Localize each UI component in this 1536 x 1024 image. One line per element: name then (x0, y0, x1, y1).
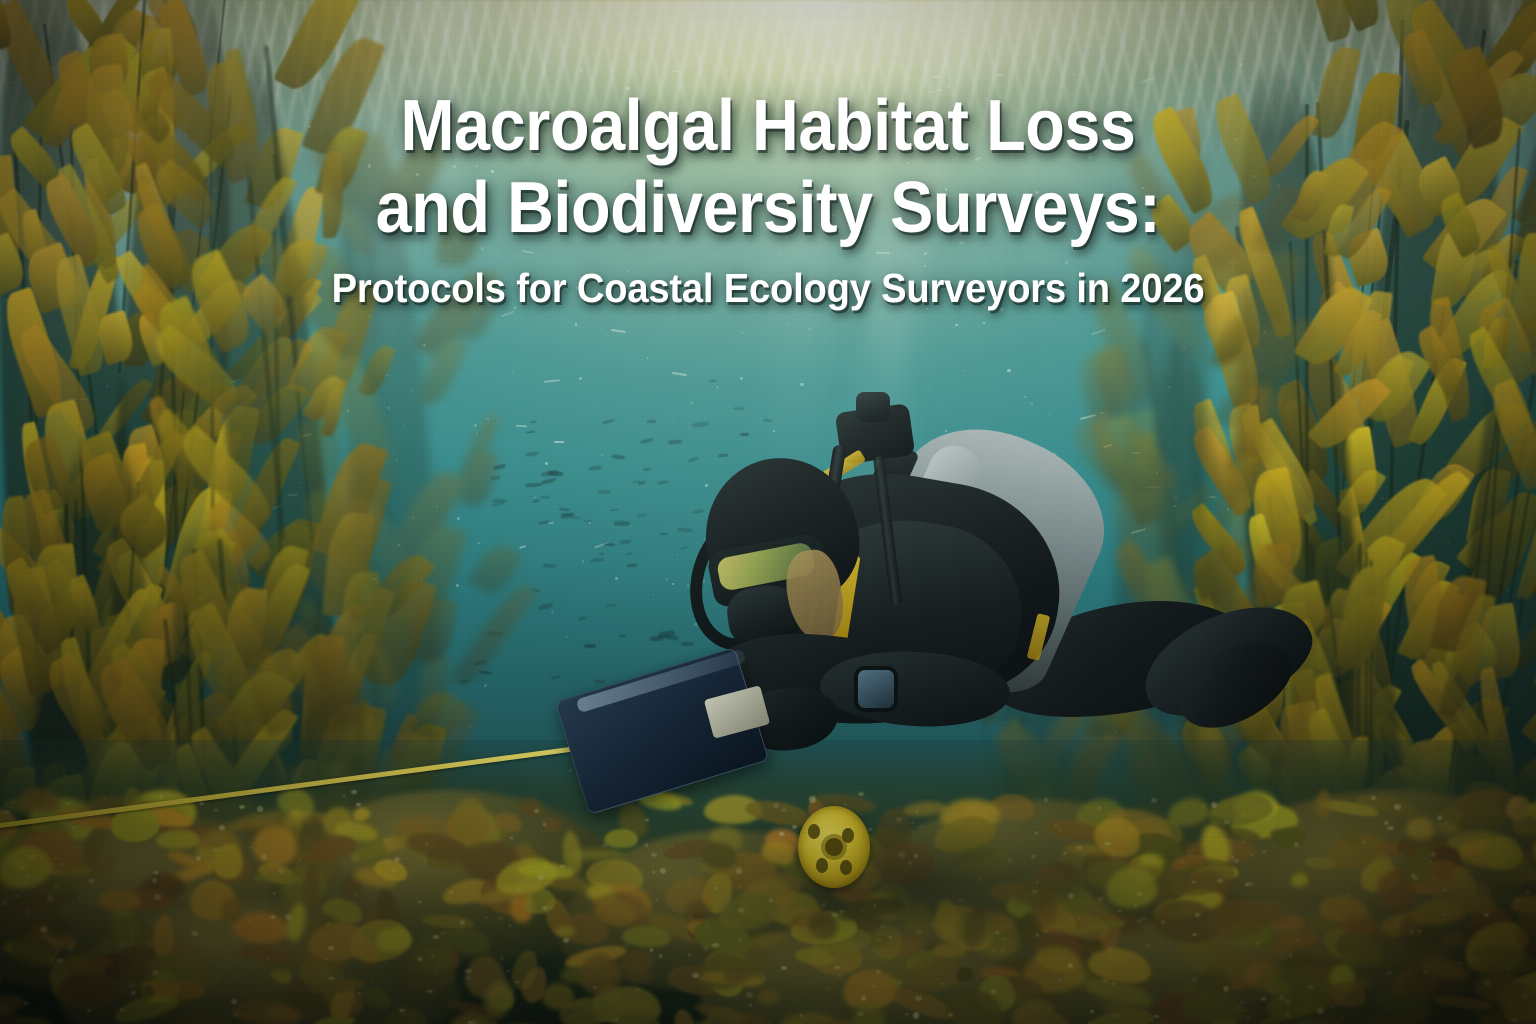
reef-speck (1506, 967, 1510, 970)
reef-speck (1371, 796, 1376, 800)
reef-speck (129, 983, 135, 989)
reef-speck (1147, 944, 1151, 947)
reef-speck (1261, 997, 1266, 1001)
reef-speck (1485, 980, 1491, 985)
reef-speck (24, 1002, 29, 1005)
reef-speck (1459, 962, 1461, 963)
reef-speck (515, 981, 519, 983)
reef-speck (54, 857, 56, 859)
reef-speck (25, 875, 29, 877)
reef-speck (1092, 952, 1094, 954)
reef-speck (1090, 1010, 1094, 1013)
reef-speck (357, 992, 361, 995)
reef-speck (418, 957, 423, 961)
reef-speck (195, 852, 198, 855)
reef-speck (89, 879, 94, 883)
reef-speck (325, 958, 328, 960)
reef-speck (154, 894, 161, 900)
reef-speck (351, 790, 357, 794)
reef-speck (434, 974, 437, 976)
reef-speck (29, 855, 35, 859)
reef-speck (1476, 959, 1480, 961)
reef-speck (507, 970, 510, 972)
first-stage-regulator (856, 392, 890, 422)
reef-speck (219, 825, 225, 829)
reef-speck (1514, 897, 1520, 902)
reef-speck (1443, 821, 1449, 824)
reef-speck (1409, 930, 1414, 934)
reef-speck (1058, 978, 1062, 982)
scuba-diver (520, 400, 1280, 920)
reef-speck (460, 920, 465, 925)
reef-speck (47, 895, 54, 902)
reef-speck (834, 966, 840, 969)
turf-algae-clump (156, 829, 200, 849)
reef-speck (484, 916, 489, 919)
reef-speck (1236, 1007, 1238, 1009)
reef-speck (826, 987, 829, 990)
reef-speck (131, 991, 136, 995)
reef-speck (1317, 1008, 1324, 1014)
reef-speck (749, 1004, 752, 1007)
reef-speck (1411, 874, 1415, 877)
poster-image: Macroalgal Habitat Loss and Biodiversity… (0, 0, 1536, 1024)
reef-speck (876, 970, 880, 973)
reef-speck (871, 985, 876, 988)
reef-speck (1394, 804, 1401, 810)
reef-speck (1154, 1015, 1158, 1017)
turf-algae-clump (96, 889, 141, 912)
reef-speck (497, 916, 504, 920)
reef-speck (1341, 1017, 1343, 1019)
reef-speck (214, 809, 218, 812)
reef-speck (700, 978, 702, 980)
reef-speck (635, 988, 640, 991)
reef-speck (837, 973, 843, 978)
reef-speck (509, 924, 511, 926)
reef-speck (232, 1012, 238, 1017)
reef-speck (266, 956, 269, 958)
reef-speck (260, 950, 263, 952)
reef-speck (1244, 1009, 1248, 1012)
reef-speck (418, 901, 420, 903)
reef-speck (1484, 913, 1489, 917)
reef-speck (1068, 963, 1073, 967)
reef-speck (285, 914, 292, 920)
reef-speck (1279, 995, 1285, 1001)
turf-algae-clump (452, 798, 488, 841)
reef-speck (53, 885, 59, 889)
reef-speck (40, 927, 47, 933)
reef-speck (1361, 839, 1367, 845)
reef-speck (1384, 821, 1389, 825)
reef-speck (857, 1012, 864, 1016)
reef-speck (67, 945, 74, 952)
reef-speck (1485, 896, 1488, 898)
reef-speck (990, 989, 997, 994)
reef-speck (1191, 977, 1197, 982)
reef-speck (399, 1009, 405, 1012)
reef-speck (57, 958, 64, 963)
reef-speck (328, 977, 335, 981)
reef-speck (1431, 852, 1436, 856)
reef-speck (294, 942, 298, 945)
reef-speck (343, 795, 345, 797)
reef-speck (746, 992, 752, 997)
reef-speck (191, 931, 198, 936)
reef-speck (1411, 825, 1415, 828)
reef-speck (152, 878, 157, 883)
reef-speck (2, 900, 8, 906)
reef-speck (510, 837, 513, 839)
reef-speck (1289, 954, 1292, 956)
reef-speck (1245, 1016, 1251, 1021)
reef-speck (257, 806, 264, 812)
reef-speck (465, 969, 472, 973)
reef-speck (703, 947, 708, 952)
reef-speck (72, 826, 75, 829)
reef-speck (394, 857, 400, 863)
reef-speck (1387, 826, 1394, 831)
reef-speck (712, 943, 718, 947)
reef-speck (500, 956, 504, 959)
reef-speck (438, 962, 441, 965)
reef-speck (239, 805, 245, 809)
reef-speck (433, 935, 438, 940)
reef-speck (1386, 971, 1391, 975)
reef-speck (1307, 985, 1314, 989)
reef-speck (1286, 1014, 1290, 1017)
reef-speck (21, 866, 25, 870)
reef-speck (87, 1009, 90, 1011)
reef-speck (913, 1012, 919, 1018)
reef-speck (1522, 994, 1526, 997)
reef-speck (1442, 888, 1448, 892)
reef-speck (1437, 816, 1442, 820)
reef-speck (153, 871, 159, 874)
reef-speck (199, 802, 204, 805)
reef-speck (1428, 860, 1433, 863)
reef-speck (688, 954, 691, 956)
reef-speck (593, 986, 598, 989)
reef-speck (650, 948, 654, 951)
reef-speck (153, 970, 158, 974)
reef-speck (120, 1008, 124, 1012)
reef-speck (50, 959, 54, 962)
reef-speck (213, 848, 218, 852)
reef-speck (77, 845, 81, 848)
reef-speck (196, 856, 201, 861)
reef-speck (1296, 939, 1300, 941)
reef-speck (25, 909, 31, 914)
dive-computer (858, 670, 894, 708)
turf-algae-clump (1406, 817, 1434, 840)
